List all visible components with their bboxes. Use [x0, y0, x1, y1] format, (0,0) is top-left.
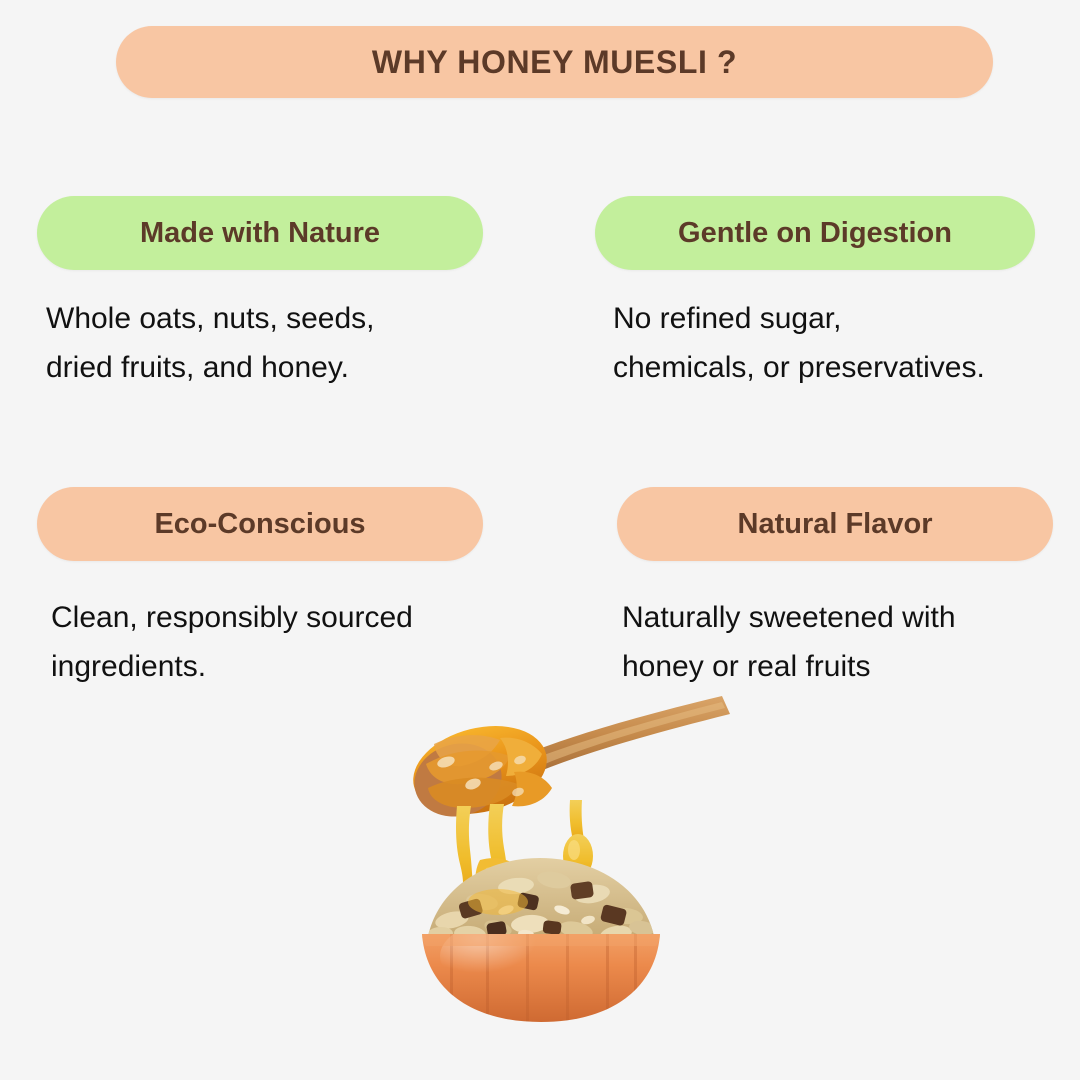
feature-label: Gentle on Digestion [678, 219, 952, 248]
page-title-banner: WHY HONEY MUESLI ? [116, 26, 993, 98]
feature-description-gentle-on-digestion: No refined sugar, chemicals, or preserva… [613, 295, 1080, 392]
feature-label: Made with Nature [140, 219, 380, 248]
honey-muesli-bowl-image [330, 688, 750, 1033]
muesli-bowl [422, 922, 660, 1030]
feature-description-eco-conscious: Clean, responsibly sourced ingredients. [51, 594, 541, 691]
feature-pill-eco-conscious: Eco-Conscious [37, 487, 483, 561]
muesli-mound [427, 858, 656, 945]
feature-label: Natural Flavor [738, 510, 933, 539]
feature-pill-made-with-nature: Made with Nature [37, 196, 483, 270]
honey-dipper-handle [526, 696, 730, 772]
feature-pill-natural-flavor: Natural Flavor [617, 487, 1053, 561]
honey-dipper-head [404, 713, 556, 827]
feature-description-natural-flavor: Naturally sweetened with honey or real f… [622, 594, 1080, 691]
infographic-page: WHY HONEY MUESLI ? Made with Nature Whol… [0, 0, 1080, 1080]
feature-pill-gentle-on-digestion: Gentle on Digestion [595, 196, 1035, 270]
feature-label: Eco-Conscious [154, 510, 365, 539]
feature-description-made-with-nature: Whole oats, nuts, seeds, dried fruits, a… [46, 295, 516, 392]
page-title: WHY HONEY MUESLI ? [372, 46, 737, 78]
